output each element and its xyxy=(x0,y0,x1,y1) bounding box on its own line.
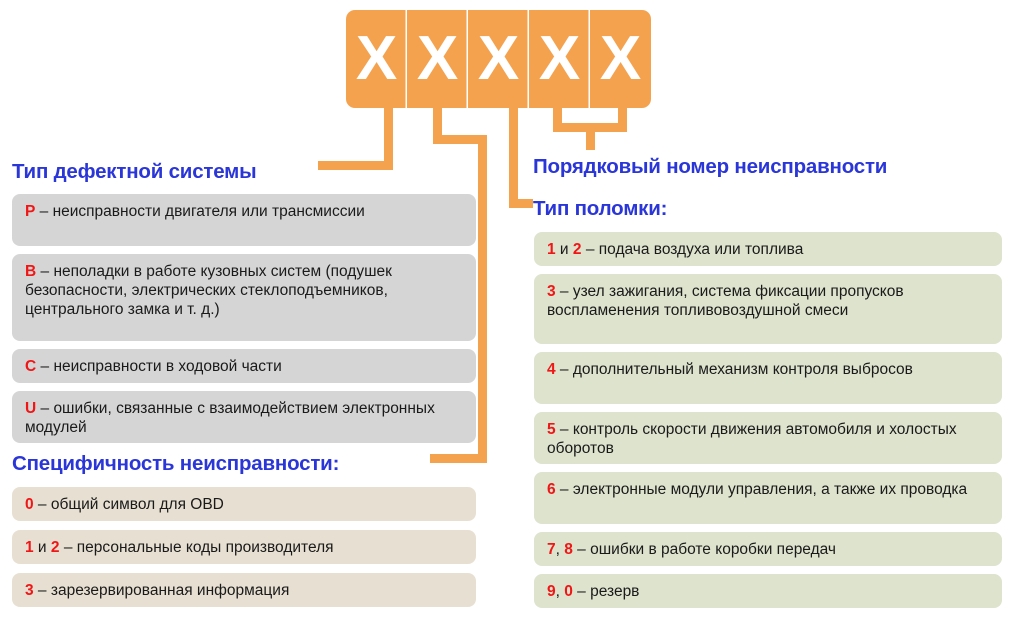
item-mid: , xyxy=(556,583,565,600)
heading-fault-sequence-number: Порядковый номер неисправности xyxy=(533,155,887,179)
item-text: зарезервированная информация xyxy=(51,582,289,599)
code-cell-1: X xyxy=(346,10,407,108)
item-sep: – xyxy=(60,539,77,556)
item-key: 4 xyxy=(547,361,556,378)
code-cell-5: X xyxy=(590,10,651,108)
list-item-p: P – неисправности двигателя или трансмис… xyxy=(12,194,476,246)
item-key: 1 xyxy=(25,539,34,556)
item-key: 9 xyxy=(547,583,556,600)
item-text: подача воздуха или топлива xyxy=(599,241,804,258)
list-item-c: C – неисправности в ходовой части xyxy=(12,349,476,383)
heading-defect-system-type: Тип дефектной системы xyxy=(12,160,256,184)
item-text: общий символ для OBD xyxy=(51,496,224,513)
item-text: ошибки, связанные с взаимодействием элек… xyxy=(25,400,435,436)
code-cell-2: X xyxy=(407,10,468,108)
item-mid: и xyxy=(556,241,573,258)
list-item-r-3: 3 – узел зажигания, система фиксации про… xyxy=(534,274,1002,344)
item-key: B xyxy=(25,263,36,280)
item-sep: – xyxy=(34,496,51,513)
item-text: неисправности двигателя или трансмиссии xyxy=(53,203,365,220)
item-sep: – xyxy=(556,283,573,300)
item-sep: – xyxy=(573,583,590,600)
item-key: 1 xyxy=(547,241,556,258)
item-text: ошибки в работе коробки передач xyxy=(590,541,836,558)
list-item-r-4: 4 – дополнительный механизм контроля выб… xyxy=(534,352,1002,404)
item-text: контроль скорости движения автомобиля и … xyxy=(547,421,957,457)
item-text: неисправности в ходовой части xyxy=(53,358,281,375)
item-text: узел зажигания, система фиксации пропуск… xyxy=(547,283,904,319)
list-item-u: U – ошибки, связанные с взаимодействием … xyxy=(12,391,476,443)
connector-cell2-vertical-long xyxy=(478,135,487,463)
item-sep: – xyxy=(556,481,573,498)
connector-bracket-drop xyxy=(586,123,595,150)
item-sep: – xyxy=(582,241,599,258)
item-key: 5 xyxy=(547,421,556,438)
item-text: персональные коды производителя xyxy=(77,539,334,556)
item-key: 3 xyxy=(25,582,34,599)
item-sep: – xyxy=(556,361,573,378)
list-item-r-6: 6 – электронные модули управления, а так… xyxy=(534,472,1002,524)
item-key: 3 xyxy=(547,283,556,300)
item-key-2: 0 xyxy=(564,583,573,600)
item-key: 7 xyxy=(547,541,556,558)
item-key-2: 2 xyxy=(51,539,60,556)
connector-cell2-horizontal-bottom xyxy=(430,454,487,463)
item-sep: – xyxy=(556,421,573,438)
infographic-canvas: X X X X X Тип дефектной системы P – неис… xyxy=(0,0,1024,625)
list-item-r-1-2: 1 и 2 – подача воздуха или топлива xyxy=(534,232,1002,266)
item-text: неполадки в работе кузовных систем (поду… xyxy=(25,263,392,318)
list-item-3: 3 – зарезервированная информация xyxy=(12,573,476,607)
item-sep: – xyxy=(36,263,53,280)
item-key: C xyxy=(25,358,36,375)
heading-breakdown-type: Тип поломки: xyxy=(533,197,667,221)
item-sep: – xyxy=(573,541,590,558)
item-key: 6 xyxy=(547,481,556,498)
heading-fault-specificity: Специфичность неисправности: xyxy=(12,452,339,476)
connector-cell3-horizontal xyxy=(509,199,533,208)
list-item-0: 0 – общий символ для OBD xyxy=(12,487,476,521)
list-item-r-9-0: 9, 0 – резерв xyxy=(534,574,1002,608)
code-cell-4: X xyxy=(529,10,590,108)
list-item-r-5: 5 – контроль скорости движения автомобил… xyxy=(534,412,1002,464)
obd-code-mask: X X X X X xyxy=(346,10,651,108)
item-sep: – xyxy=(36,400,53,417)
item-key: P xyxy=(25,203,35,220)
connector-cell1-horizontal xyxy=(318,161,393,170)
item-text: резерв xyxy=(590,583,639,600)
item-sep: – xyxy=(34,582,51,599)
code-cell-3: X xyxy=(468,10,529,108)
item-sep: – xyxy=(36,358,53,375)
list-item-b: B – неполадки в работе кузовных систем (… xyxy=(12,254,476,341)
item-text: электронные модули управления, а также и… xyxy=(573,481,967,498)
item-mid: , xyxy=(556,541,565,558)
list-item-r-7-8: 7, 8 – ошибки в работе коробки передач xyxy=(534,532,1002,566)
item-sep: – xyxy=(35,203,52,220)
list-item-1-2: 1 и 2 – персональные коды производителя xyxy=(12,530,476,564)
item-mid: и xyxy=(34,539,51,556)
item-key-2: 8 xyxy=(564,541,573,558)
item-key-2: 2 xyxy=(573,241,582,258)
connector-cell3-vertical xyxy=(509,108,518,208)
item-text: дополнительный механизм контроля выбросо… xyxy=(573,361,913,378)
item-key: 0 xyxy=(25,496,34,513)
item-key: U xyxy=(25,400,36,417)
